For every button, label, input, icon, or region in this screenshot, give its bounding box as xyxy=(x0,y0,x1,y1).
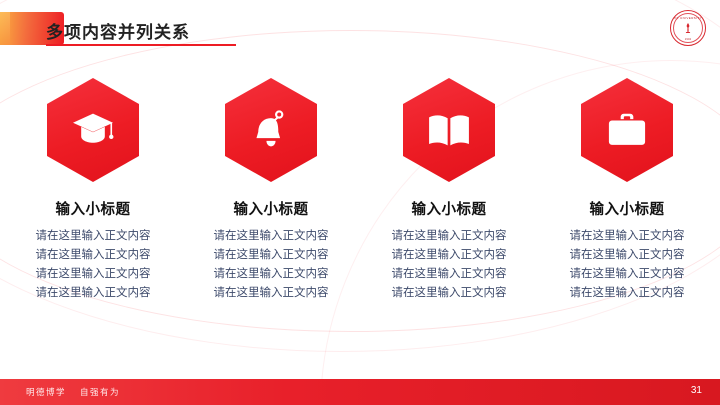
footer-motto-right: 自强有为 xyxy=(80,386,120,398)
column-title: 输入小标题 xyxy=(412,198,487,219)
torch-icon xyxy=(682,22,694,34)
body-line: 请在这里输入正文内容 xyxy=(392,229,507,244)
body-line: 请在这里输入正文内容 xyxy=(36,248,151,263)
body-line: 请在这里输入正文内容 xyxy=(570,286,685,301)
graduation-cap-icon xyxy=(71,110,115,150)
column-body: 请在这里输入正文内容 请在这里输入正文内容 请在这里输入正文内容 请在这里输入正… xyxy=(570,229,685,301)
slide-header: 多项内容并列关系 XX UNIVERSITY 1902 xyxy=(0,0,720,58)
body-line: 请在这里输入正文内容 xyxy=(214,286,329,301)
body-line: 请在这里输入正文内容 xyxy=(392,267,507,282)
column-title: 输入小标题 xyxy=(590,198,665,219)
body-line: 请在这里输入正文内容 xyxy=(392,286,507,301)
bell-icon xyxy=(251,109,291,151)
logo-inner-ring: XX UNIVERSITY 1902 xyxy=(673,13,703,43)
body-line: 请在这里输入正文内容 xyxy=(36,267,151,282)
hexagon-badge[interactable] xyxy=(403,78,495,182)
title-underline xyxy=(46,44,236,46)
content-column[interactable]: 输入小标题 请在这里输入正文内容 请在这里输入正文内容 请在这里输入正文内容 请… xyxy=(199,78,344,301)
body-line: 请在这里输入正文内容 xyxy=(214,229,329,244)
footer-motto-group: 明德博学 自强有为 xyxy=(26,386,120,398)
hexagon-badge[interactable] xyxy=(225,78,317,182)
slide: 多项内容并列关系 XX UNIVERSITY 1902 xyxy=(0,0,720,405)
column-title: 输入小标题 xyxy=(234,198,309,219)
content-columns: 输入小标题 请在这里输入正文内容 请在这里输入正文内容 请在这里输入正文内容 请… xyxy=(0,78,720,301)
body-line: 请在这里输入正文内容 xyxy=(36,229,151,244)
column-body: 请在这里输入正文内容 请在这里输入正文内容 请在这里输入正文内容 请在这里输入正… xyxy=(36,229,151,301)
logo-bottom-text: 1902 xyxy=(685,38,692,41)
body-line: 请在这里输入正文内容 xyxy=(570,267,685,282)
briefcase-icon xyxy=(606,111,648,149)
column-body: 请在这里输入正文内容 请在这里输入正文内容 请在这里输入正文内容 请在这里输入正… xyxy=(392,229,507,301)
body-line: 请在这里输入正文内容 xyxy=(36,286,151,301)
body-line: 请在这里输入正文内容 xyxy=(570,229,685,244)
footer-motto-left: 明德博学 xyxy=(26,386,66,398)
content-column[interactable]: 输入小标题 请在这里输入正文内容 请在这里输入正文内容 请在这里输入正文内容 请… xyxy=(21,78,166,301)
column-body: 请在这里输入正文内容 请在这里输入正文内容 请在这里输入正文内容 请在这里输入正… xyxy=(214,229,329,301)
logo-top-text: XX UNIVERSITY xyxy=(674,16,702,20)
page-number: 31 xyxy=(691,385,702,396)
hexagon-badge[interactable] xyxy=(581,78,673,182)
page-title: 多项内容并列关系 xyxy=(46,18,190,43)
university-emblem-logo: XX UNIVERSITY 1902 xyxy=(670,10,706,46)
column-title: 输入小标题 xyxy=(56,198,131,219)
body-line: 请在这里输入正文内容 xyxy=(392,248,507,263)
body-line: 请在这里输入正文内容 xyxy=(214,248,329,263)
open-book-icon xyxy=(426,111,472,149)
hexagon-badge[interactable] xyxy=(47,78,139,182)
content-column[interactable]: 输入小标题 请在这里输入正文内容 请在这里输入正文内容 请在这里输入正文内容 请… xyxy=(555,78,700,301)
content-column[interactable]: 输入小标题 请在这里输入正文内容 请在这里输入正文内容 请在这里输入正文内容 请… xyxy=(377,78,522,301)
body-line: 请在这里输入正文内容 xyxy=(570,248,685,263)
slide-footer: 明德博学 自强有为 31 xyxy=(0,379,720,405)
body-line: 请在这里输入正文内容 xyxy=(214,267,329,282)
